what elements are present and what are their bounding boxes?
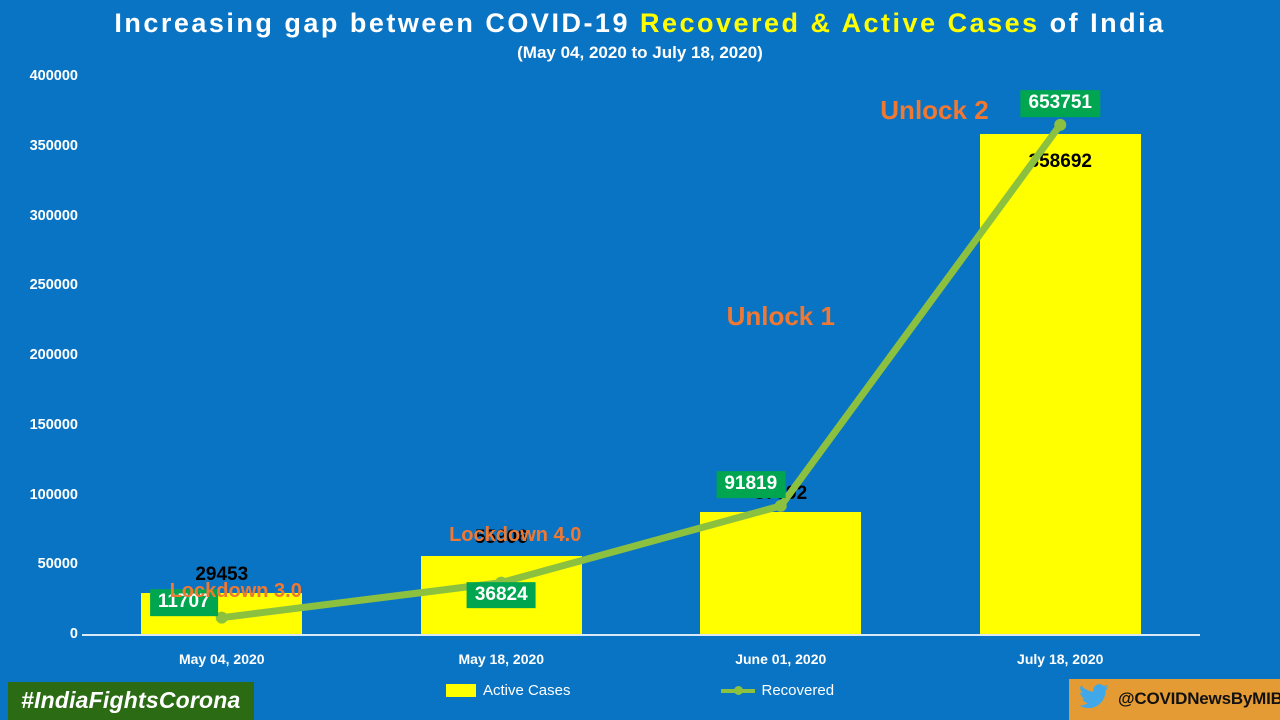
recovered-line-path: [222, 125, 1061, 618]
legend-item-recovered[interactable]: Recovered: [721, 682, 835, 699]
legend-swatch-line-icon: [721, 684, 755, 697]
legend-label-active-cases: Active Cases: [483, 682, 571, 699]
hashtag-text: #IndiaFightsCorona: [21, 687, 241, 713]
legend-item-active-cases[interactable]: Active Cases: [446, 682, 571, 699]
twitter-handle-text: @COVIDNewsByMIB: [1118, 689, 1280, 709]
india-fights-corona-badge: #IndiaFightsCorona: [8, 682, 254, 720]
recovered-data-label: 653751: [1021, 90, 1100, 117]
plot-area: 0500001000001500002000002500003000003500…: [0, 0, 1280, 720]
annotation-label: Unlock 2: [880, 95, 988, 126]
recovered-marker[interactable]: [1054, 119, 1066, 131]
recovered-markers: [216, 119, 1067, 624]
annotation-label: Unlock 1: [727, 301, 835, 332]
annotation-label: Lockdown 4.0: [449, 524, 581, 547]
annotation-label: Lockdown 3.0: [170, 580, 302, 603]
recovered-data-label: 36824: [467, 582, 536, 609]
recovered-data-label: 91819: [716, 471, 785, 498]
chart-canvas: Increasing gap between COVID-19 Recovere…: [0, 0, 1280, 720]
legend-swatch-bar-icon: [446, 684, 476, 697]
legend-label-recovered: Recovered: [762, 682, 835, 699]
recovered-marker[interactable]: [775, 500, 787, 512]
twitter-handle-badge[interactable]: @COVIDNewsByMIB: [1069, 679, 1280, 720]
twitter-bird-icon: [1079, 684, 1109, 714]
